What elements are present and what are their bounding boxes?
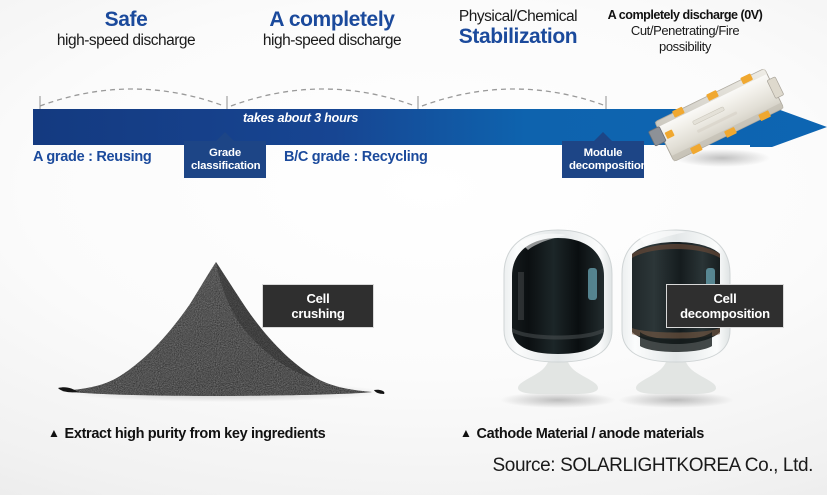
triangle-marker-icon: ▲ xyxy=(460,426,472,440)
callout-grade-line-2: classification xyxy=(191,160,260,172)
discharge-note-line-1: A completely discharge (0V) xyxy=(592,8,778,23)
caption-left: ▲Extract high purity from key ingredient… xyxy=(48,426,325,442)
source-prefix: Source: xyxy=(493,455,561,476)
callout-module-decomposition[interactable]: Module decomposition xyxy=(562,141,644,178)
callout-grade-line-1: Grade xyxy=(209,147,241,159)
callout-module-line-1: Module xyxy=(584,147,623,159)
callout-module-line-2: decomposition xyxy=(569,160,647,172)
stage-2-title: A completely xyxy=(232,8,432,32)
label-cell-crushing[interactable]: Cell crushing xyxy=(262,284,374,328)
discharge-note-line-2: Cut/Penetrating/Fire xyxy=(592,23,778,39)
source-line: Source: SOLARLIGHTKOREA Co., Ltd. xyxy=(493,455,814,477)
stage-header-1: Safe high-speed discharge xyxy=(28,8,224,49)
grade-a-label: A grade : Reusing xyxy=(33,149,151,165)
stage-2-subtitle: high-speed discharge xyxy=(232,32,432,49)
infographic-root: Safe high-speed discharge A completely h… xyxy=(0,0,827,495)
triangle-marker-icon: ▲ xyxy=(48,426,60,440)
label-cell-decomposition-line-1: Cell xyxy=(713,291,736,306)
stage-header-2: A completely high-speed discharge xyxy=(232,8,432,49)
label-cell-decomposition[interactable]: Cell decomposition xyxy=(666,284,784,328)
caption-left-text: Extract high purity from key ingredients xyxy=(65,426,326,442)
stage-3-title: Stabilization xyxy=(430,25,606,49)
stage-3-subtitle: Physical/Chemical xyxy=(430,8,606,25)
stage-header-3: Physical/Chemical Stabilization xyxy=(430,8,606,49)
discharge-note: A completely discharge (0V) Cut/Penetrat… xyxy=(592,8,778,55)
label-cell-crushing-line-2: crushing xyxy=(291,306,344,321)
caption-right-text: Cathode Material / anode materials xyxy=(477,426,704,442)
discharge-note-line-3: possibility xyxy=(592,39,778,55)
grade-bc-label: B/C grade : Recycling xyxy=(284,149,428,165)
stage-1-title: Safe xyxy=(28,8,224,32)
battery-module-photo xyxy=(648,62,786,168)
source-company: SOLARLIGHTKOREA Co., Ltd. xyxy=(560,455,813,476)
caption-right: ▲Cathode Material / anode materials xyxy=(460,426,704,442)
callout-grade-classification[interactable]: Grade classification xyxy=(184,141,266,178)
stage-1-subtitle: high-speed discharge xyxy=(28,32,224,49)
label-cell-crushing-line-1: Cell xyxy=(306,291,329,306)
duration-label: takes about 3 hours xyxy=(243,111,358,125)
label-cell-decomposition-line-2: decomposition xyxy=(680,306,770,321)
